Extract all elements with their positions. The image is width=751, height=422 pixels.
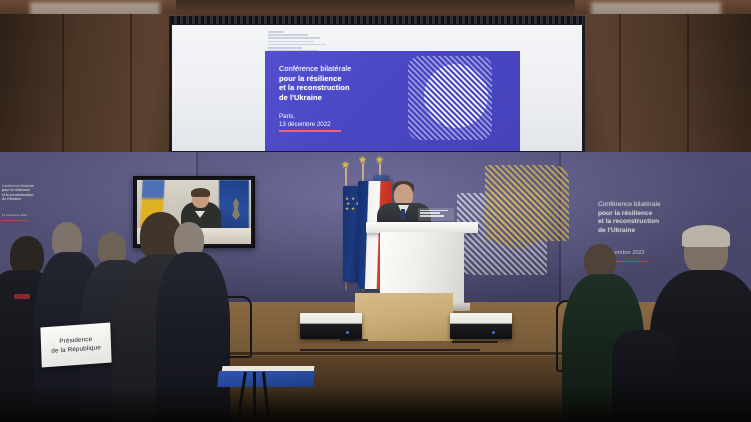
- audience-head: [584, 244, 616, 278]
- projection-screen-mount: [171, 16, 583, 24]
- floor-cable: [340, 339, 368, 341]
- conference-photo-scene: Conférence bilatérale pour la résilience…: [0, 0, 751, 422]
- stage-front-panel: [355, 293, 453, 341]
- slide-accent-rule: [279, 130, 341, 132]
- flag-finial-icon: ★: [375, 155, 384, 166]
- audience-lapel-ribbon: [14, 294, 30, 299]
- slide-date-block: Paris, 13 décembre 2022: [279, 113, 331, 129]
- monitor-indicator-icon: [346, 331, 349, 334]
- stage-monitor-left: [300, 313, 362, 339]
- slide-title-line2: pour la résilience: [279, 74, 399, 84]
- slide-title-line4: de l'Ukraine: [279, 93, 399, 103]
- slide-title-line1: Conférence bilatérale: [279, 64, 399, 74]
- presentation-slide: Conférence bilatérale pour la résilience…: [265, 51, 520, 151]
- slide-date: 13 décembre 2022: [279, 121, 331, 129]
- flag-finial-icon: ★: [358, 155, 367, 166]
- audience-hair: [682, 225, 730, 247]
- flag-finial-icon: ★: [341, 160, 350, 171]
- slide-title-line3: et la reconstruction: [279, 83, 399, 93]
- audience-torso: [156, 252, 230, 422]
- projection-software-chrome: [268, 31, 330, 51]
- camera-tripod-leg: [253, 372, 256, 418]
- podium-sign: [418, 208, 454, 221]
- floor-cable: [300, 349, 480, 351]
- speaker-tie: [401, 209, 405, 219]
- slide-city: Paris,: [279, 113, 331, 121]
- slide-title: Conférence bilatérale pour la résilience…: [279, 64, 399, 102]
- stage-monitor-right: [450, 313, 512, 339]
- striped-circle-motif-slide: [400, 52, 508, 150]
- floor-cable: [452, 341, 498, 343]
- remote-speaker-hair: [191, 188, 210, 197]
- monitor-indicator-icon: [492, 331, 495, 334]
- audience-torso: [612, 330, 678, 422]
- place-card: Présidence de la République: [40, 323, 111, 368]
